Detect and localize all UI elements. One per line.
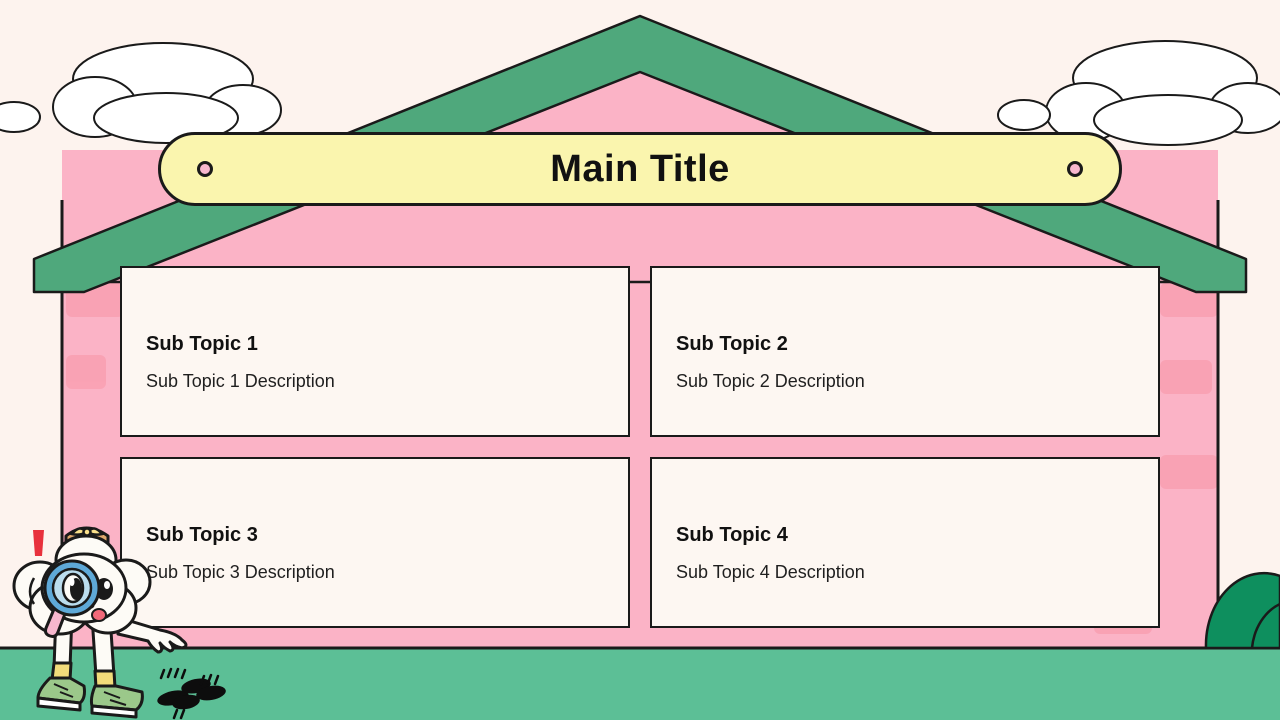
head-contour-line [30, 578, 34, 604]
footprint-1 [156, 688, 190, 708]
footprint-2 [180, 676, 212, 696]
cloud-right-puff [998, 100, 1050, 130]
sub-topic-description-3: Sub Topic 3 Description [146, 562, 604, 584]
footprint-3 [171, 693, 201, 712]
sub-topic-card-grid: Sub Topic 1 Sub Topic 1 Description Sub … [120, 266, 1160, 628]
sub-topic-description-1: Sub Topic 1 Description [146, 371, 604, 393]
bush-group [1206, 573, 1280, 648]
sub-topic-card-4[interactable]: Sub Topic 4 Sub Topic 4 Description [650, 457, 1160, 628]
cloud-left [53, 43, 281, 143]
sub-topic-title-1: Sub Topic 1 [146, 333, 604, 355]
sub-topic-card-1[interactable]: Sub Topic 1 Sub Topic 1 Description [120, 266, 630, 437]
character-shoes [38, 678, 142, 717]
sub-topic-title-2: Sub Topic 2 [676, 333, 1134, 355]
footprint-motion-ticks [161, 669, 218, 718]
footprint-trail [156, 669, 227, 718]
exclamation-mark-icon [33, 530, 44, 570]
cloud-left-puff [0, 102, 40, 132]
page-title: Main Title [550, 150, 730, 188]
character-face [88, 578, 114, 621]
sub-topic-description-4: Sub Topic 4 Description [676, 562, 1134, 584]
footprint-4 [195, 684, 227, 703]
sub-topic-card-2[interactable]: Sub Topic 2 Sub Topic 2 Description [650, 266, 1160, 437]
ground [0, 648, 1280, 720]
sub-topic-card-3[interactable]: Sub Topic 3 Sub Topic 3 Description [120, 457, 630, 628]
character-legs [52, 614, 115, 688]
cloud-right [1046, 41, 1280, 145]
sub-topic-description-2: Sub Topic 2 Description [676, 371, 1134, 393]
sub-topic-title-4: Sub Topic 4 [676, 524, 1134, 546]
title-banner: Main Title [158, 132, 1122, 206]
sub-topic-title-3: Sub Topic 3 [146, 524, 604, 546]
character-hat [66, 528, 108, 544]
magnifying-glass-icon [45, 561, 99, 637]
slide-canvas: Main Title Sub Topic 1 Sub Topic 1 Descr… [0, 0, 1280, 720]
right-screw-icon [1067, 161, 1083, 177]
left-screw-icon [197, 161, 213, 177]
